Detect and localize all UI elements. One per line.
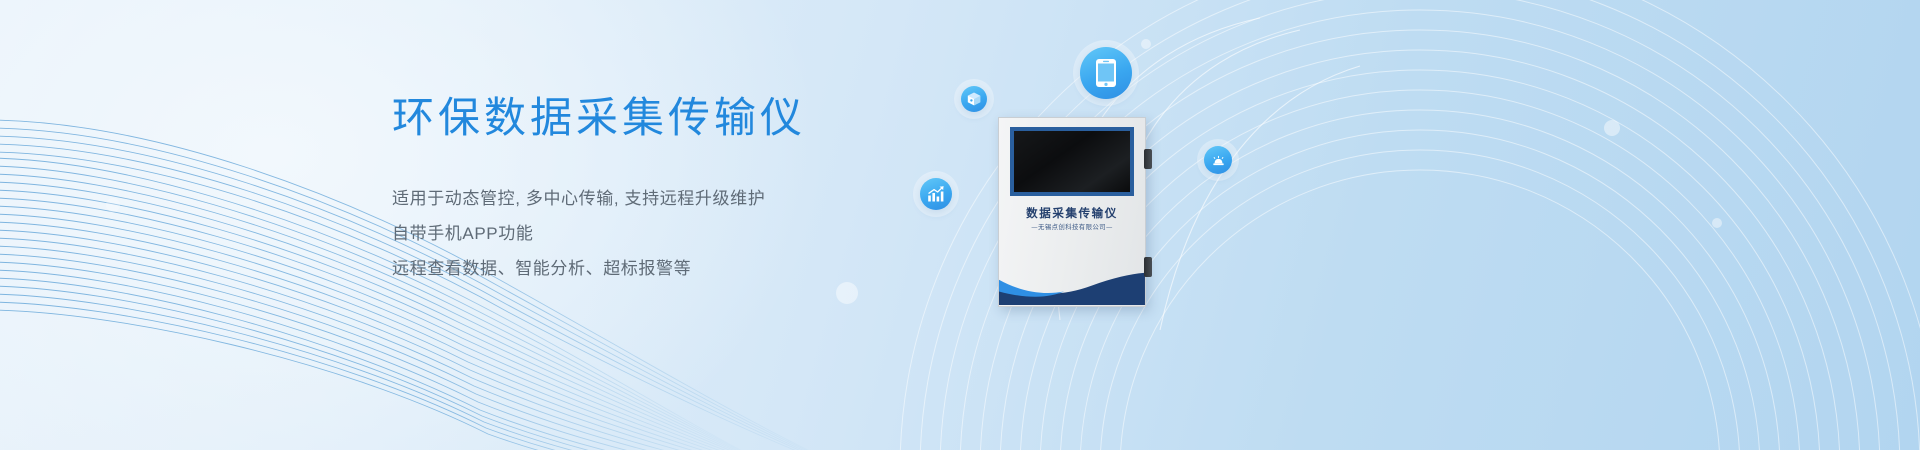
device-brand-label: 数据采集传输仪 [999,205,1145,221]
device-screen-bezel [1010,127,1134,196]
device-body: 数据采集传输仪 —无锡点创科技有限公司— [998,117,1146,307]
page-title: 环保数据采集传输仪 [392,92,1092,145]
product-banner: 环保数据采集传输仪 适用于动态管控, 多中心传输, 支持远程升级维护 自带手机A… [0,0,1920,450]
cube-icon [961,86,987,112]
bar-chart-trend-icon [920,178,952,210]
smartphone-icon [1080,47,1132,99]
device-wave-graphic [999,258,1145,306]
subtitle-line-3: 远程查看数据、智能分析、超标报警等 [392,251,1092,286]
decor-dot-micro [1712,218,1722,228]
banner-text-block: 环保数据采集传输仪 适用于动态管控, 多中心传输, 支持远程升级维护 自带手机A… [392,92,1092,286]
subtitle-list: 适用于动态管控, 多中心传输, 支持远程升级维护 自带手机APP功能 远程查看数… [392,181,1092,286]
device-latch-top [1144,149,1152,169]
device-screen [1014,131,1130,192]
subtitle-line-1: 适用于动态管控, 多中心传输, 支持远程升级维护 [392,181,1092,216]
decor-dot-small [1141,39,1151,49]
alarm-light-icon [1204,146,1232,174]
device-company-label: —无锡点创科技有限公司— [999,222,1145,231]
product-device-image: 数据采集传输仪 —无锡点创科技有限公司— [998,117,1146,307]
decor-dot-faint [106,198,120,212]
decor-dot-tiny [1604,120,1620,136]
device-latch-bottom [1144,257,1152,277]
subtitle-line-2: 自带手机APP功能 [392,216,1092,251]
